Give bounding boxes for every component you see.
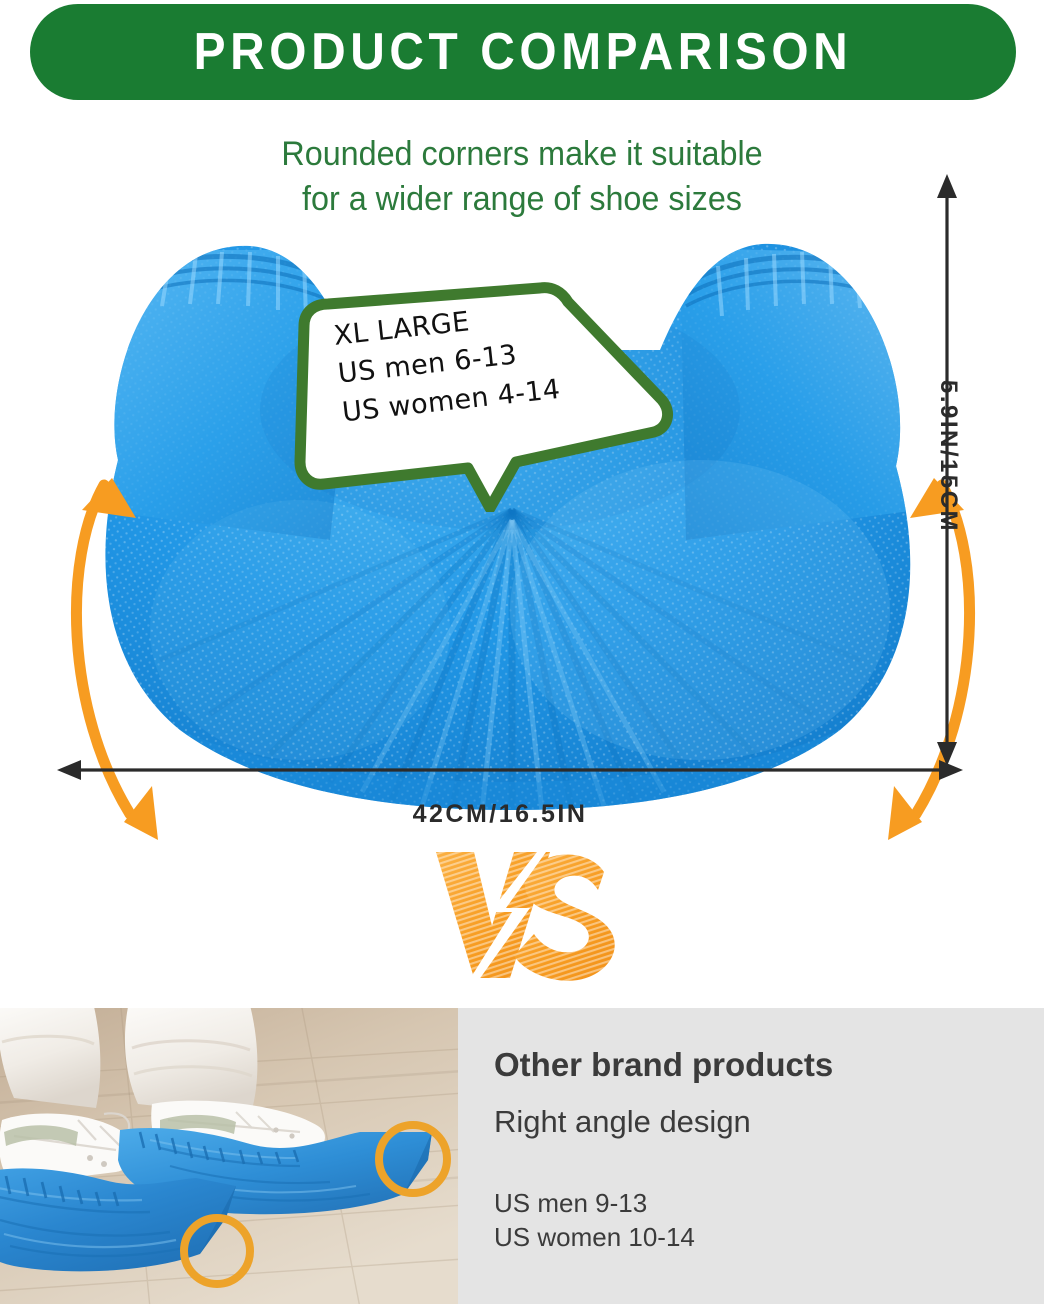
subtitle: Rounded corners make it suitable for a w… <box>0 132 1044 222</box>
shoe-covers-photo <box>0 1008 458 1304</box>
shoe-cover-body <box>60 230 980 830</box>
other-brand-subheading: Right angle design <box>494 1104 1044 1140</box>
header-banner: PRODUCT COMPARISON <box>30 4 1016 100</box>
other-brand-info-panel: Other brand products Right angle design … <box>458 1008 1044 1304</box>
versus-lightning-icon <box>418 838 628 998</box>
other-brand-sizes: US men 9-13 US women 10-14 <box>494 1186 1044 1255</box>
pant-leg-front <box>0 1008 100 1108</box>
shoe-cover-illustration <box>0 210 1044 840</box>
page-title: PRODUCT COMPARISON <box>194 22 853 82</box>
comparison-row: Other brand products Right angle design … <box>0 1008 1044 1304</box>
width-dimension-label: 42CM/16.5IN <box>0 800 1000 829</box>
other-brand-men-sizes: US men 9-13 <box>494 1186 1044 1220</box>
product-hero <box>0 210 1044 840</box>
other-brand-photo <box>0 1008 458 1304</box>
height-dimension-line <box>915 170 995 770</box>
pant-leg-back <box>125 1008 257 1116</box>
other-brand-women-sizes: US women 10-14 <box>494 1220 1044 1254</box>
other-brand-heading: Other brand products <box>494 1046 1044 1084</box>
width-dimension-line <box>55 750 965 790</box>
subtitle-line-1: Rounded corners make it suitable <box>26 132 1018 177</box>
